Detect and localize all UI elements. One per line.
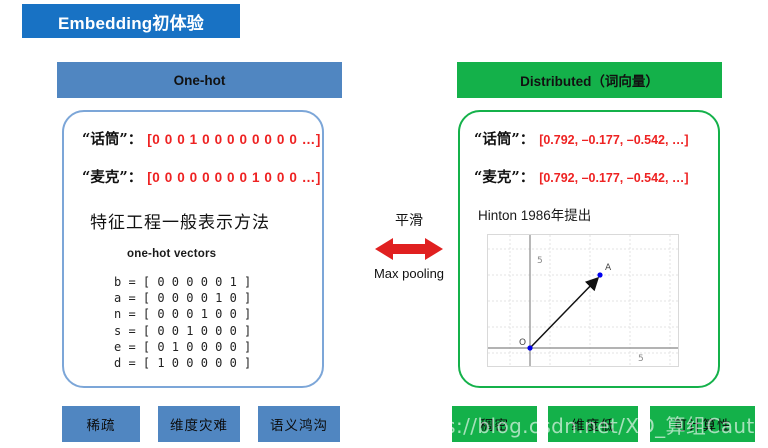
- transition-group: 平滑 Max pooling: [366, 210, 452, 281]
- page-title: Embedding初体验: [58, 9, 204, 34]
- onehot-vector-row-2: “麦克” ： [0 0 0 0 0 0 0 0 1 0 0 0 …]: [82, 166, 321, 187]
- chip-distributed-3[interactable]: 可计算性: [650, 406, 755, 442]
- distributed-colon-1: ：: [520, 128, 535, 149]
- onehot-word-1: “话筒”: [82, 128, 128, 149]
- onehot-vector-row-1: “话筒” ： [0 0 0 1 0 0 0 0 0 0 0 0 …]: [82, 128, 321, 149]
- svg-text:5: 5: [537, 256, 543, 266]
- svg-text:A: A: [605, 263, 612, 273]
- chip-onehot-3-label: 语义鸿沟: [270, 414, 328, 434]
- onehot-colon-2: ：: [128, 166, 143, 187]
- distributed-values-2: [0.792, –0.177, –0.542, …]: [539, 171, 688, 185]
- vector-plot: O A 5 5: [487, 234, 679, 367]
- column-header-onehot-label: One-hot: [174, 73, 226, 88]
- distributed-vector-row-2: “麦克” ： [0.792, –0.177, –0.542, …]: [474, 166, 689, 187]
- chip-distributed-1-label: 稠密: [480, 414, 509, 434]
- onehot-heading: 特征工程一般表示方法: [90, 208, 270, 233]
- chip-onehot-3[interactable]: 语义鸿沟: [258, 406, 340, 442]
- slide-title-bar: Embedding初体验: [22, 4, 240, 38]
- onehot-colon-1: ：: [128, 128, 143, 149]
- onehot-vectors-listing: b = [ 0 0 0 0 0 1 ] a = [ 0 0 0 0 1 0 ] …: [114, 274, 251, 371]
- chip-distributed-2[interactable]: 维度低: [548, 406, 638, 442]
- column-header-distributed: Distributed（词向量）: [457, 62, 722, 98]
- column-header-distributed-label: Distributed（词向量）: [520, 70, 659, 90]
- double-headed-arrow-icon: [366, 234, 452, 264]
- svg-text:O: O: [519, 338, 526, 348]
- transition-bottom-label: Max pooling: [366, 266, 452, 281]
- column-header-onehot: One-hot: [57, 62, 342, 98]
- chip-onehot-1[interactable]: 稀疏: [62, 406, 140, 442]
- chip-onehot-2[interactable]: 维度灾难: [158, 406, 240, 442]
- distributed-colon-2: ：: [520, 166, 535, 187]
- onehot-word-2: “麦克”: [82, 166, 128, 187]
- transition-top-label: 平滑: [366, 210, 452, 230]
- distributed-vector-row-1: “话筒” ： [0.792, –0.177, –0.542, …]: [474, 128, 689, 149]
- chip-onehot-2-label: 维度灾难: [170, 414, 228, 434]
- distributed-panel: “话筒” ： [0.792, –0.177, –0.542, …] “麦克” ：…: [458, 110, 720, 388]
- onehot-vectors-caption: one-hot vectors: [127, 248, 216, 260]
- distributed-word-2: “麦克”: [474, 166, 520, 187]
- onehot-values-2: [0 0 0 0 0 0 0 0 1 0 0 0 …]: [147, 170, 321, 185]
- onehot-panel: “话筒” ： [0 0 0 1 0 0 0 0 0 0 0 0 …] “麦克” …: [62, 110, 324, 388]
- distributed-word-1: “话筒”: [474, 128, 520, 149]
- chip-distributed-2-label: 维度低: [571, 414, 615, 434]
- distributed-values-1: [0.792, –0.177, –0.542, …]: [539, 133, 688, 147]
- distributed-note: Hinton 1986年提出: [478, 204, 591, 224]
- slide-canvas: Embedding初体验 One-hot Distributed（词向量） “话…: [0, 0, 768, 448]
- onehot-values-1: [0 0 0 1 0 0 0 0 0 0 0 0 …]: [147, 132, 321, 147]
- chip-distributed-3-label: 可计算性: [674, 414, 732, 434]
- chip-onehot-1-label: 稀疏: [87, 414, 116, 434]
- chip-distributed-1[interactable]: 稠密: [452, 406, 537, 442]
- svg-text:5: 5: [638, 354, 644, 364]
